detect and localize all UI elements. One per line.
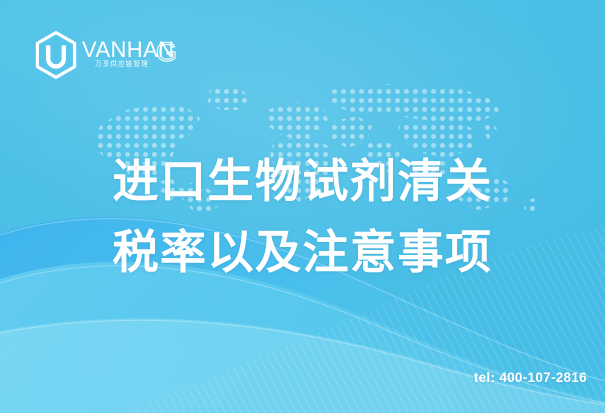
vanhang-hexagon-u-icon bbox=[33, 30, 79, 80]
promo-banner: VANHAN G 万享供应链管理 进口生物试剂清关 税率以及注意事项 tel: … bbox=[0, 0, 605, 413]
brand-wordmark: VANHAN G 万享供应链管理 bbox=[82, 35, 186, 75]
headline-line-1: 进口生物试剂清关 bbox=[0, 146, 605, 217]
page-title: 进口生物试剂清关 税率以及注意事项 bbox=[0, 146, 605, 288]
wordmark-subtitle-text: 万享供应链管理 bbox=[95, 59, 149, 68]
headline-line-2: 税率以及注意事项 bbox=[0, 217, 605, 288]
contact-phone[interactable]: tel: 400-107-2816 bbox=[474, 370, 587, 385]
wordmark-tail-text: G bbox=[156, 37, 177, 67]
brand-logo[interactable]: VANHAN G 万享供应链管理 bbox=[33, 29, 183, 81]
